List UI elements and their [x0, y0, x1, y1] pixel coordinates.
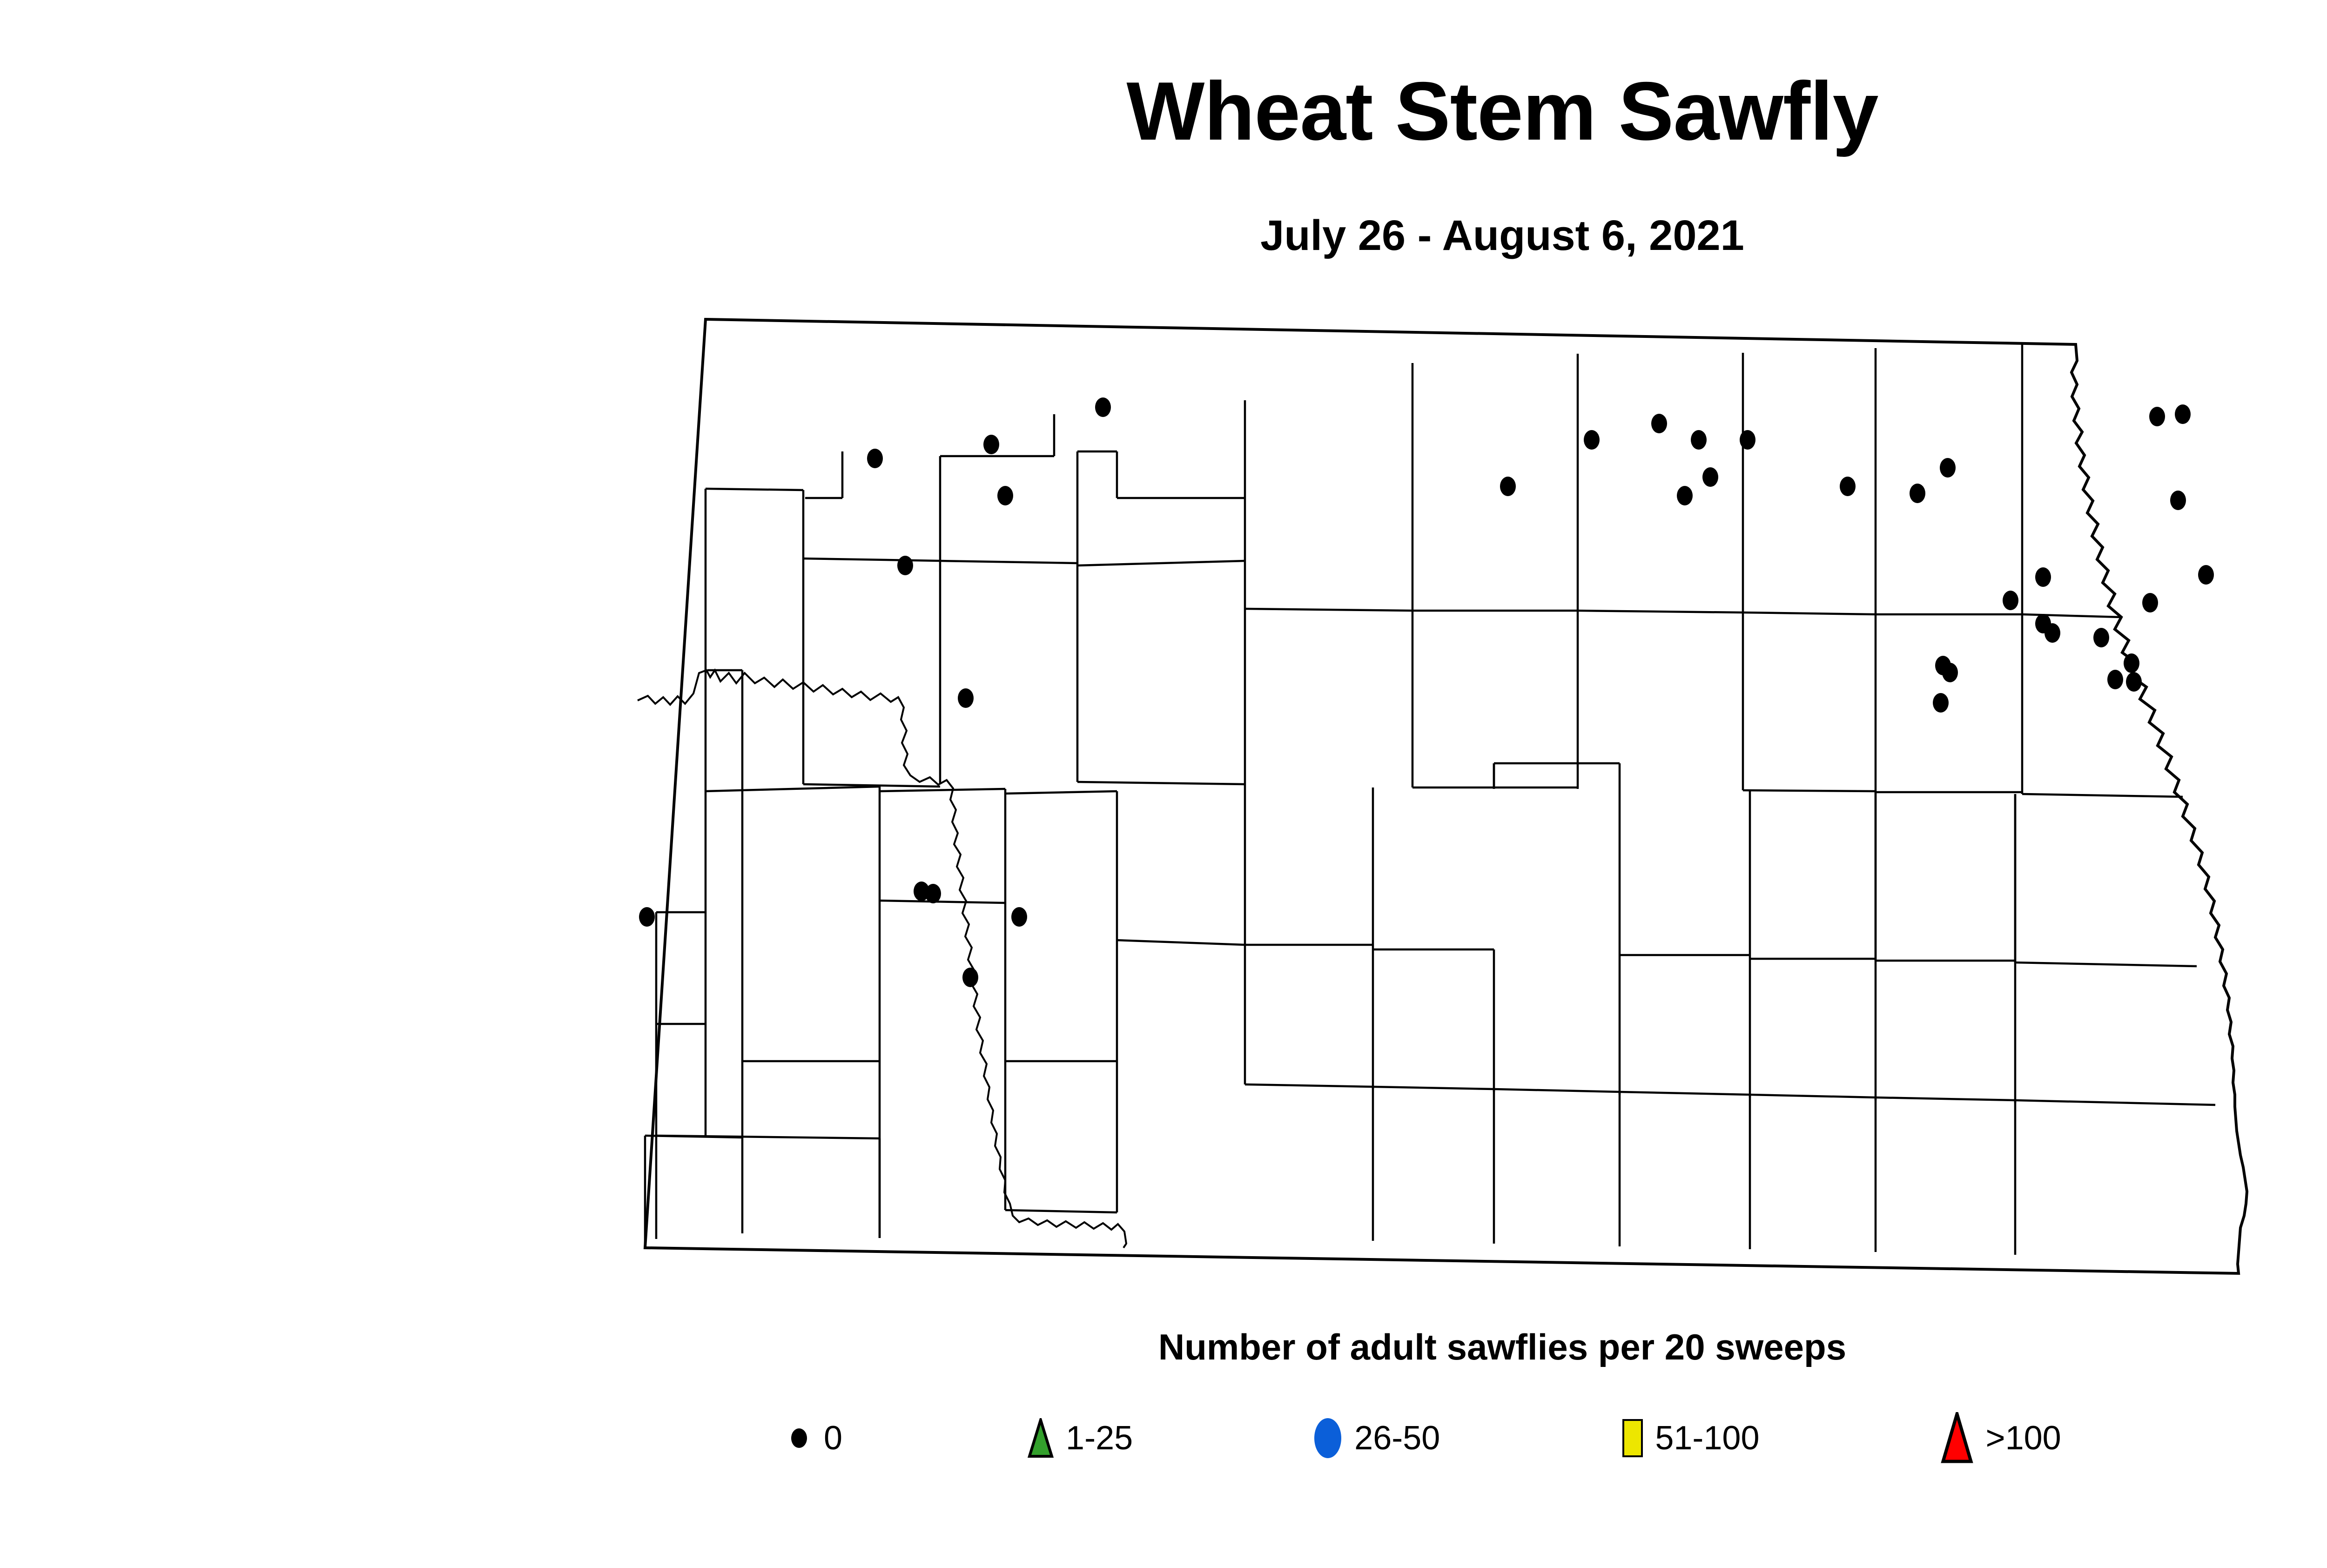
- sample-point: [962, 968, 978, 987]
- legend-label-26-50: 26-50: [1354, 1421, 1440, 1455]
- legend-label-zero: 0: [824, 1421, 842, 1455]
- sample-point: [2093, 628, 2109, 647]
- page-title: Wheat Stem Sawfly: [0, 70, 2327, 153]
- sample-point: [1095, 397, 1111, 417]
- sample-point: [1011, 907, 1027, 927]
- sample-point: [2003, 591, 2018, 610]
- sample-point: [997, 486, 1013, 505]
- black-circle-icon: [791, 1428, 807, 1448]
- sample-point: [1910, 484, 1925, 503]
- sample-point: [925, 884, 941, 903]
- sample-point: [958, 688, 974, 708]
- sample-point: [1677, 486, 1693, 505]
- legend-item-26-50: 26-50: [1313, 1417, 1440, 1459]
- legend-label-51-100: 51-100: [1655, 1421, 1759, 1455]
- map-container: [619, 298, 2276, 1299]
- sample-point: [2107, 670, 2123, 689]
- sample-point: [2124, 653, 2139, 673]
- red-triangle-icon: [1940, 1412, 1974, 1464]
- sample-point: [1702, 467, 1718, 487]
- sample-point: [1940, 458, 1956, 478]
- sample-point: [2170, 491, 2186, 510]
- legend-item-51-100: 51-100: [1622, 1419, 1759, 1457]
- sample-point: [639, 907, 655, 927]
- sample-point: [1933, 693, 1949, 713]
- sample-point: [2126, 672, 2142, 692]
- sample-point: [2175, 404, 2191, 424]
- state-outline: [645, 319, 2247, 1273]
- north-dakota-county-map: [619, 298, 2276, 1299]
- sample-point: [983, 435, 999, 454]
- sample-point: [2142, 593, 2158, 612]
- sample-point: [1691, 430, 1707, 450]
- sample-point: [1740, 430, 1755, 450]
- sample-point: [2149, 407, 2165, 426]
- sample-point: [1651, 414, 1667, 433]
- sample-point: [867, 449, 883, 468]
- sample-point: [1840, 477, 1856, 496]
- legend-label-over-100: >100: [1986, 1421, 2061, 1455]
- legend-label-1-25: 1-25: [1066, 1421, 1133, 1455]
- sample-point: [897, 556, 913, 575]
- green-triangle-icon: [1028, 1418, 1054, 1458]
- sample-point: [2198, 565, 2214, 585]
- page-subtitle: July 26 - August 6, 2021: [0, 214, 2327, 257]
- sample-point: [1584, 430, 1600, 450]
- legend-item-over-100: >100: [1940, 1412, 2061, 1464]
- legend-title: Number of adult sawflies per 20 sweeps: [0, 1329, 2327, 1365]
- sample-point: [1942, 663, 1958, 682]
- legend-item-1-25: 1-25: [1028, 1418, 1133, 1458]
- sawfly-map-page: Wheat Stem Sawfly July 26 - August 6, 20…: [0, 0, 2327, 1568]
- legend-item-zero: 0: [791, 1421, 842, 1455]
- legend: 0 1-25 26-50 51-100 >100: [791, 1406, 2234, 1471]
- sample-point: [1500, 477, 1516, 496]
- map-base: [645, 319, 2247, 1273]
- sample-point: [2035, 567, 2051, 587]
- yellow-square-icon: [1622, 1419, 1643, 1457]
- blue-circle-icon: [1313, 1417, 1342, 1459]
- sample-point: [2045, 623, 2060, 643]
